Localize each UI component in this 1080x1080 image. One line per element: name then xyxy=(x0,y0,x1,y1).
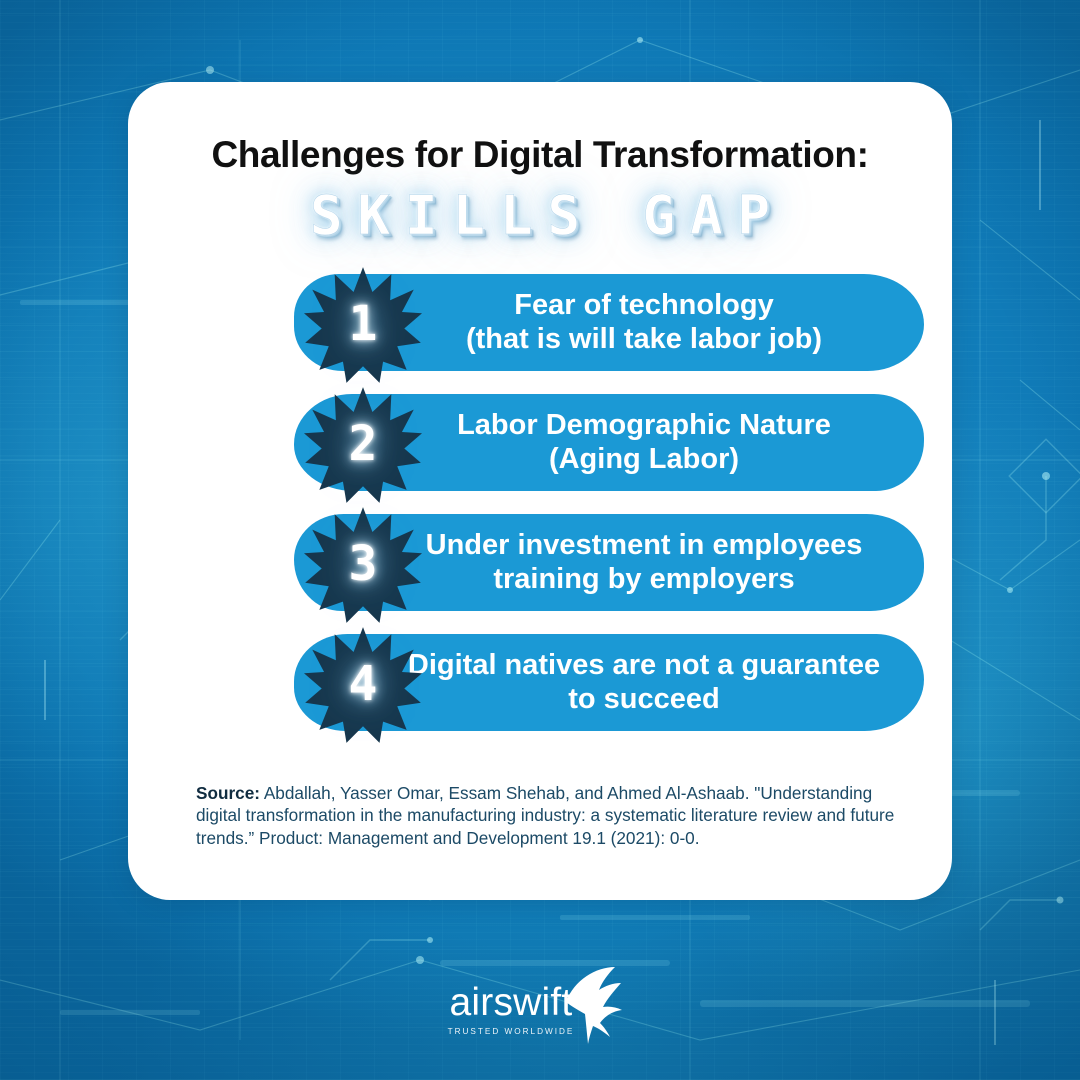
brand-tagline: TRUSTED WORLDWIDE xyxy=(448,1027,575,1036)
challenge-list: Fear of technology (that is will take la… xyxy=(128,266,952,746)
list-item: Digital natives are not a guarantee to s… xyxy=(128,626,952,746)
challenge-text: Labor Demographic Nature (Aging Labor) xyxy=(457,409,831,475)
number-badge-label: 3 xyxy=(304,506,422,624)
number-badge-label: 2 xyxy=(304,386,422,504)
source-text: Abdallah, Yasser Omar, Essam Shehab, and… xyxy=(196,783,894,848)
brand-logo-text: airswift TRUSTED WORLDWIDE xyxy=(448,983,575,1038)
subtitle-skills-gap: SKILLS GAP xyxy=(295,184,785,247)
number-badge: 2 xyxy=(304,386,422,504)
infographic-poster: Challenges for Digital Transformation: S… xyxy=(0,0,1080,1080)
number-badge: 1 xyxy=(304,266,422,384)
number-badge: 3 xyxy=(304,506,422,624)
challenge-text: Fear of technology (that is will take la… xyxy=(466,289,822,355)
list-item: Labor Demographic Nature (Aging Labor) 2 xyxy=(128,386,952,506)
challenge-text: Digital natives are not a guarantee to s… xyxy=(408,649,880,715)
content-card: Challenges for Digital Transformation: S… xyxy=(128,82,952,900)
list-item: Under investment in employees training b… xyxy=(128,506,952,626)
number-badge-label: 1 xyxy=(304,266,422,384)
brand-name: airswift xyxy=(450,983,573,1022)
page-title: Challenges for Digital Transformation: xyxy=(128,134,952,176)
number-badge: 4 xyxy=(304,626,422,744)
challenge-text: Under investment in employees training b… xyxy=(426,529,863,595)
number-badge-label: 4 xyxy=(304,626,422,744)
list-item: Fear of technology (that is will take la… xyxy=(128,266,952,386)
brand-logo: airswift TRUSTED WORLDWIDE xyxy=(0,966,1080,1038)
source-citation: Source: Abdallah, Yasser Omar, Essam She… xyxy=(196,782,908,849)
source-label: Source: xyxy=(196,783,260,803)
subtitle-container: SKILLS GAP xyxy=(128,184,952,264)
